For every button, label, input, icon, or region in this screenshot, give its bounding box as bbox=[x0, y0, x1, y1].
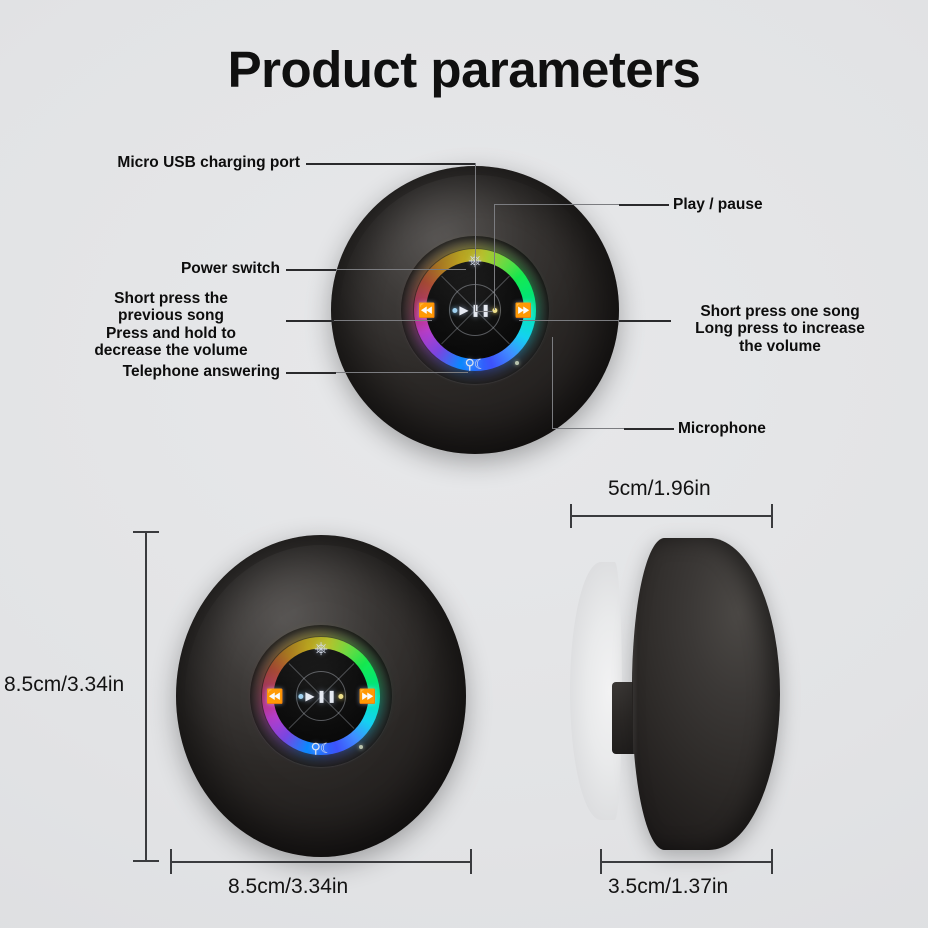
leader-micro-usb-foot bbox=[475, 311, 493, 312]
telephone-answer-icon[interactable]: ⚲☾ bbox=[311, 741, 332, 755]
speaker-front-view-dimensioned: ⎈ ⏪ ⏩ ▶ ❚❚ ⚲☾ bbox=[176, 535, 466, 857]
dimension-cap-left bbox=[600, 849, 602, 874]
next-track-icon[interactable]: ⏩ bbox=[359, 689, 376, 703]
dimension-line-front-width bbox=[170, 861, 472, 863]
callout-power-switch-label: Power switch bbox=[100, 260, 280, 277]
callout-previous-song-label: Short press the previous song Press and … bbox=[62, 290, 280, 359]
leader-play-pause-top bbox=[494, 204, 619, 205]
speaker-rim-highlight bbox=[633, 602, 638, 786]
product-parameters-diagram: Product parameters ⎈ ⏪ ⏩ ▶ bbox=[0, 0, 928, 928]
dimension-cap-left bbox=[170, 849, 172, 874]
indicator-dot-blue bbox=[452, 308, 457, 313]
leader-next-song-inner bbox=[519, 320, 619, 321]
page-title: Product parameters bbox=[0, 40, 928, 99]
dimension-cap-left bbox=[570, 504, 572, 528]
play-triangle-icon: ▶ bbox=[305, 690, 314, 702]
callout-telephone-label: Telephone answering bbox=[80, 363, 280, 380]
callout-micro-usb-label: Micro USB charging port bbox=[60, 154, 300, 171]
leader-next-song bbox=[619, 320, 671, 322]
callout-microphone-label: Microphone bbox=[678, 420, 878, 437]
dimension-line-side-width bbox=[570, 515, 773, 517]
leader-microphone-inner bbox=[552, 428, 624, 429]
leader-power-switch bbox=[286, 269, 336, 271]
callout-play-pause-label: Play / pause bbox=[673, 196, 873, 213]
leader-play-pause-stem bbox=[494, 204, 495, 310]
dimension-cap-top bbox=[133, 531, 159, 533]
power-icon[interactable]: ⎈ bbox=[314, 640, 328, 657]
leader-micro-usb-drop bbox=[475, 163, 476, 311]
play-triangle-icon: ▶ bbox=[459, 304, 468, 316]
leader-play-pause bbox=[619, 204, 669, 206]
leader-power-switch-inner bbox=[336, 269, 466, 270]
leader-previous-song-inner bbox=[334, 320, 432, 321]
pause-bars-icon: ❚❚ bbox=[317, 690, 337, 702]
dimension-front-height-text: 8.5cm/3.34in bbox=[4, 673, 124, 697]
callout-next-song-label: Short press one song Long press to incre… bbox=[668, 303, 892, 355]
dimension-cap-right bbox=[771, 849, 773, 874]
leader-telephone-inner bbox=[336, 372, 468, 373]
microphone-dot-icon bbox=[359, 745, 363, 749]
indicator-dot-blue bbox=[298, 694, 303, 699]
dimension-cap-bottom bbox=[133, 860, 159, 862]
dimension-line-front-height bbox=[145, 531, 147, 862]
pause-bars-icon: ❚❚ bbox=[471, 304, 491, 316]
dimension-side-depth-text: 3.5cm/1.37in bbox=[608, 875, 728, 899]
microphone-dot-icon bbox=[515, 361, 519, 365]
leader-previous-song bbox=[286, 320, 334, 322]
indicator-dot-yellow bbox=[339, 694, 344, 699]
play-pause-icon[interactable]: ▶ ❚❚ bbox=[298, 690, 343, 702]
leader-telephone bbox=[286, 372, 336, 374]
control-dish: ⎈ ⏪ ⏩ ▶ ❚❚ ⚲☾ bbox=[250, 625, 392, 767]
next-track-icon[interactable]: ⏩ bbox=[515, 303, 532, 317]
dimension-front-width-text: 8.5cm/3.34in bbox=[228, 875, 348, 899]
leader-microphone-stem bbox=[552, 337, 553, 429]
dimension-side-width-text: 5cm/1.96in bbox=[608, 477, 711, 501]
dimension-line-side-depth bbox=[600, 861, 773, 863]
speaker-body-side bbox=[632, 538, 780, 850]
leader-microphone bbox=[624, 428, 674, 430]
previous-track-icon[interactable]: ⏪ bbox=[266, 689, 283, 703]
dimension-cap-right bbox=[771, 504, 773, 528]
leader-micro-usb bbox=[306, 163, 476, 165]
telephone-answer-icon[interactable]: ⚲☾ bbox=[465, 357, 486, 371]
previous-track-icon[interactable]: ⏪ bbox=[418, 303, 435, 317]
dimension-cap-right bbox=[470, 849, 472, 874]
speaker-side-view bbox=[570, 530, 785, 860]
